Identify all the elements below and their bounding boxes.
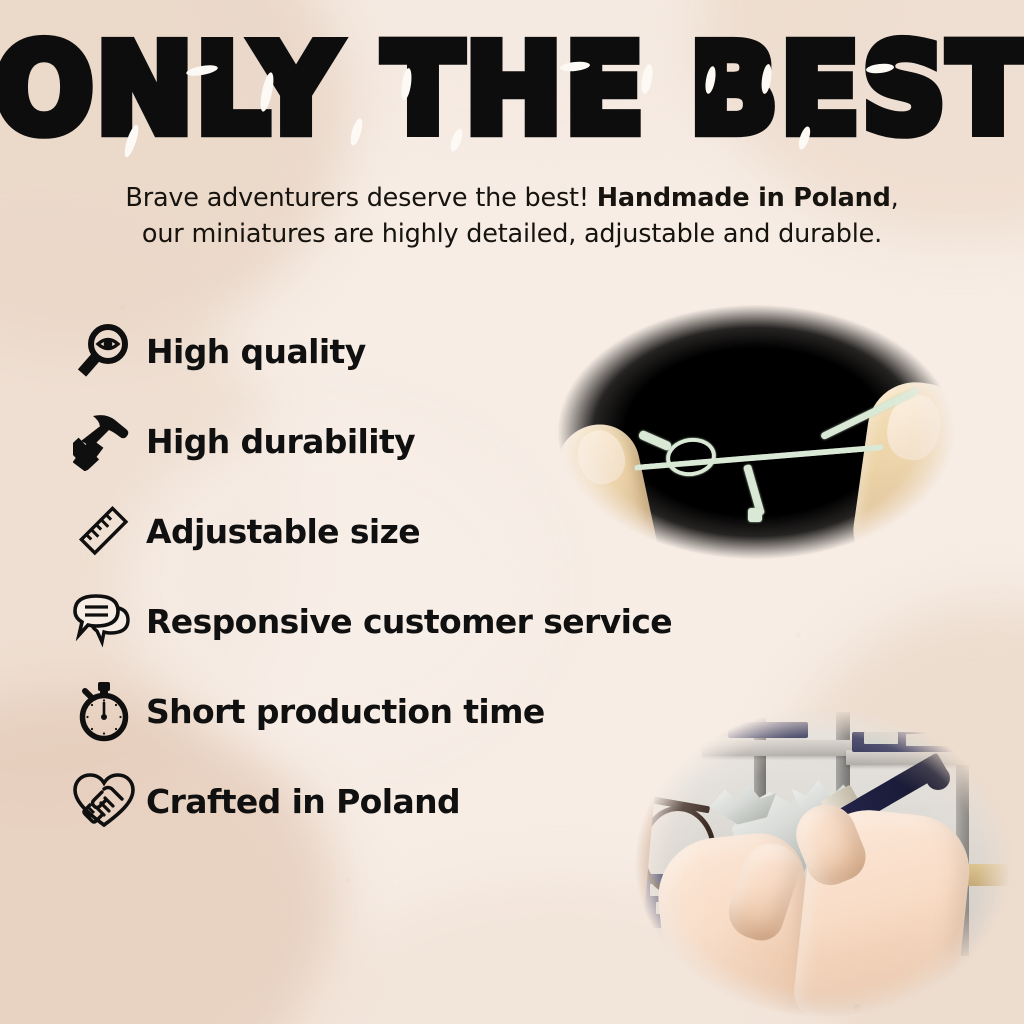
promo-poster: ONLY THE BEST Brave adventurers deserve … xyxy=(0,0,1024,1024)
magnifier-eye-icon xyxy=(62,314,146,388)
subtitle-highlight: Handmade in Poland xyxy=(597,183,891,213)
headline-container: ONLY THE BEST xyxy=(0,28,1024,132)
subtitle: Brave adventurers deserve the best! Hand… xyxy=(82,180,942,252)
stopwatch-icon xyxy=(62,674,146,748)
speech-bubbles-icon xyxy=(62,584,146,658)
subtitle-tail: , xyxy=(891,183,899,213)
feature-label: Crafted in Poland xyxy=(146,782,460,821)
workshop-painting-photo xyxy=(606,688,1024,1024)
miniature-tip xyxy=(748,508,762,522)
feature-label: High durability xyxy=(146,422,415,461)
flexible-miniature-photo xyxy=(516,278,996,586)
feature-label: Responsive customer service xyxy=(146,602,672,641)
ruler-icon xyxy=(62,494,146,568)
feature-label: Adjustable size xyxy=(146,512,420,551)
subtitle-line2: our miniatures are highly detailed, adju… xyxy=(142,219,882,249)
feature-label: High quality xyxy=(146,332,366,371)
feature-label: Short production time xyxy=(146,692,545,731)
page-title: ONLY THE BEST xyxy=(0,28,1024,151)
handshake-heart-icon xyxy=(62,764,146,838)
subtitle-lead: Brave adventurers deserve the best! xyxy=(125,183,588,213)
hammer-icon xyxy=(62,404,146,478)
feature-item-customer-service: Responsive customer service xyxy=(62,576,762,666)
